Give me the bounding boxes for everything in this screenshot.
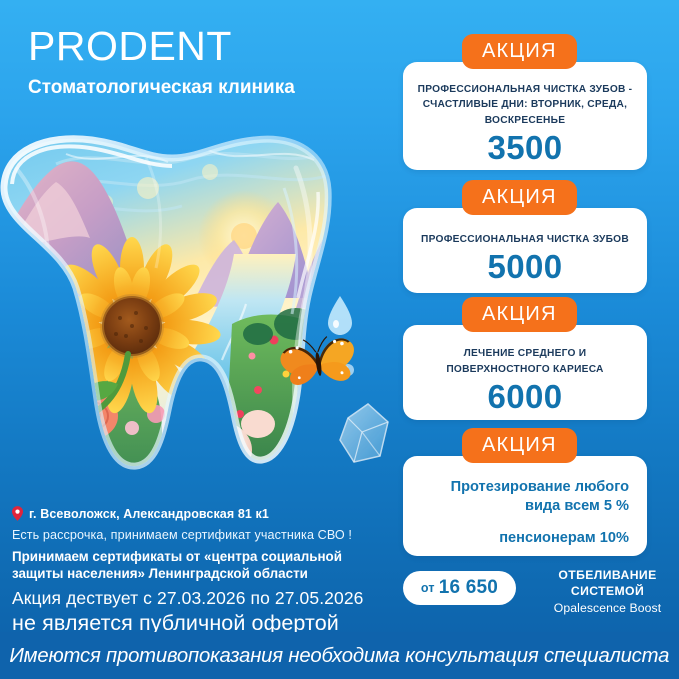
whitening-system-name: Opalescence Boost [535,601,679,617]
promo-badge: АКЦИЯ [462,428,577,463]
promo-badge: АКЦИЯ [462,180,577,215]
left-column: PRODENT Стоматологическая клиника [0,0,392,679]
promo-card-body: ЛЕЧЕНИЕ СРЕДНЕГО И ПОВЕРХНОСТНОГО КАРИЕС… [403,325,647,420]
promo-card-body: Протезирование любого вида всем 5 % пенс… [403,456,647,556]
promo-description: ЛЕЧЕНИЕ СРЕДНЕГО И ПОВЕРХНОСТНОГО КАРИЕС… [415,346,635,377]
promo-price: 5000 [487,250,562,285]
disclaimer-bar: Имеются противопоказания необходима конс… [0,632,679,679]
whitening-title-line2: СИСТЕМОЙ [535,584,679,600]
promo-price: 3500 [487,131,562,166]
location-pin-icon [12,506,23,521]
price-value: 16 650 [439,577,498,599]
brand-block: PRODENT Стоматологическая клиника [28,26,368,100]
tooth-illustration [0,128,392,520]
installment-text: Есть рассрочка, принимаем сертификат уча… [12,528,390,542]
promo-card-body: ПРОФЕССИОНАЛЬНАЯ ЧИСТКА ЗУБОВ 5000 [403,208,647,293]
brand-subtitle: Стоматологическая клиника [28,76,368,100]
promo-badge: АКЦИЯ [462,297,577,332]
address-text: г. Всеволожск, Александровская 81 к1 [29,507,269,521]
promo-description: ПРОФЕССИОНАЛЬНАЯ ЧИСТКА ЗУБОВ - СЧАСТЛИВ… [417,82,633,129]
brand-name: PRODENT [28,26,368,67]
promo-period-text: Акция дествует с 27.03.2026 по 27.05.202… [12,588,390,609]
address-row: г. Всеволожск, Александровская 81 к1 [12,506,390,521]
poster-root: PRODENT Стоматологическая клиника [0,0,679,679]
prosthetics-line-2: пенсионерам 10% [417,529,633,548]
whitening-text-block: ОТБЕЛИВАНИЕ СИСТЕМОЙ Opalescence Boost [535,568,679,617]
certificates-text: Принимаем сертификаты от «центра социаль… [12,548,390,582]
promo-description: ПРОФЕССИОНАЛЬНАЯ ЧИСТКА ЗУБОВ [421,232,629,248]
info-block: г. Всеволожск, Александровская 81 к1 Ест… [12,506,390,636]
disclaimer-text: Имеются противопоказания необходима конс… [10,644,670,668]
prosthetics-line-1: Протезирование любого вида всем 5 % [417,478,633,517]
promo-price: 6000 [487,380,562,415]
whitening-title-line1: ОТБЕЛИВАНИЕ [535,568,679,584]
whitening-price-pill[interactable]: от 16 650 [403,571,516,605]
price-prefix: от [421,581,435,595]
promo-badge: АКЦИЯ [462,34,577,69]
whitening-row: от 16 650 ОТБЕЛИВАНИЕ СИСТЕМОЙ Opalescen… [403,570,675,612]
right-column: ПРОФЕССИОНАЛЬНАЯ ЧИСТКА ЗУБОВ - СЧАСТЛИВ… [396,0,679,679]
promo-card-body: ПРОФЕССИОНАЛЬНАЯ ЧИСТКА ЗУБОВ - СЧАСТЛИВ… [403,62,647,170]
